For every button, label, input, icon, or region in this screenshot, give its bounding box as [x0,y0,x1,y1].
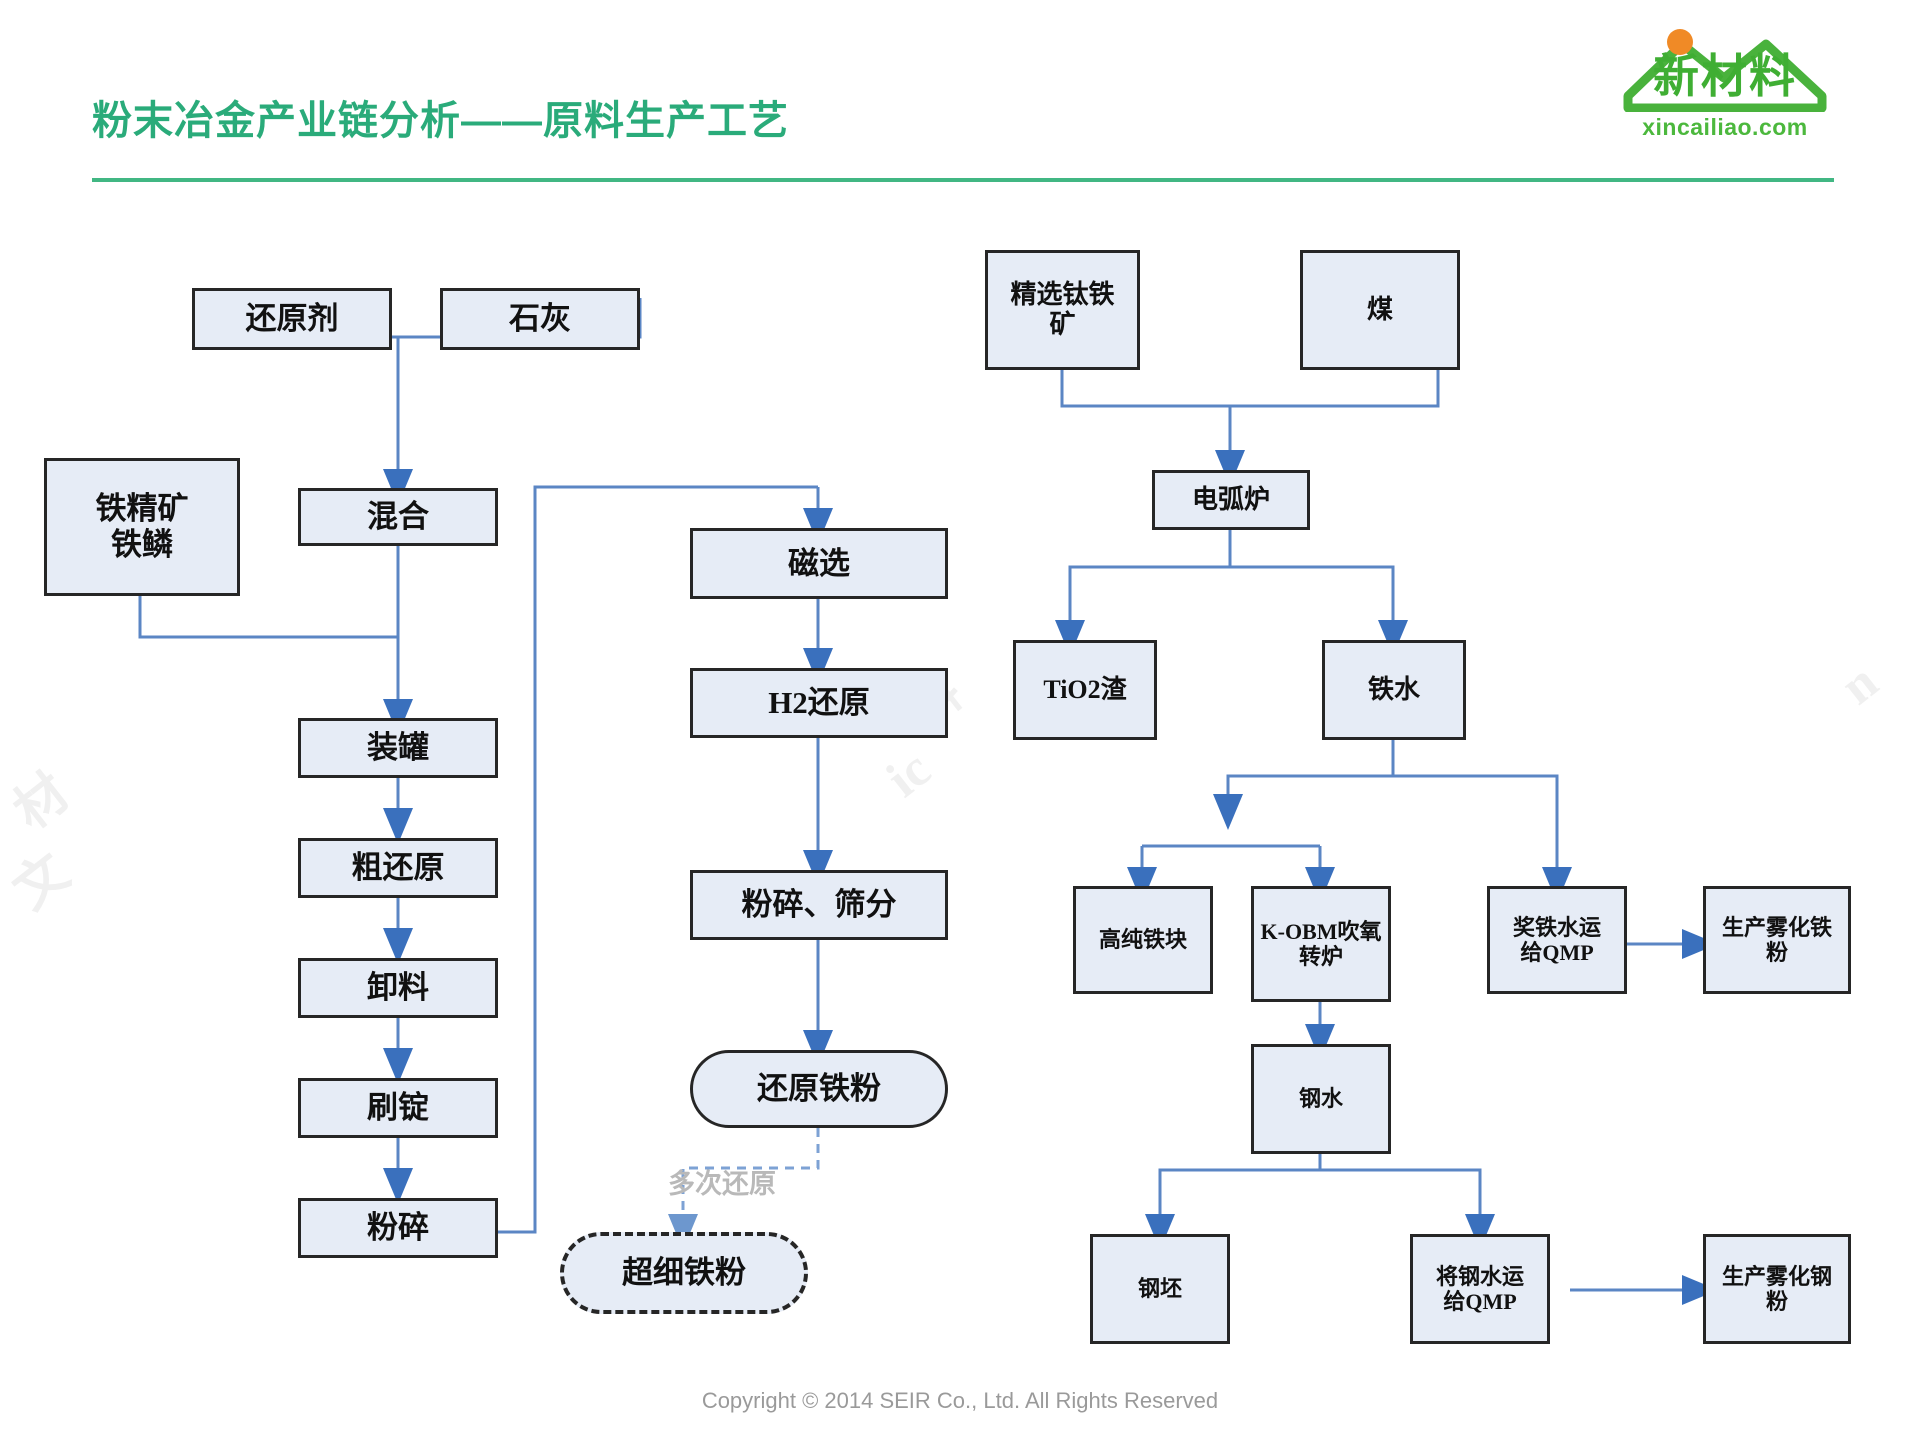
node-atomized-steel-line1: 生产雾化钢 [1722,1264,1832,1289]
node-molten-iron[interactable]: 铁水 [1322,640,1466,740]
node-ship-iron-line2: 给QMP [1520,940,1593,965]
node-coal[interactable]: 煤 [1300,250,1460,370]
node-atomized-iron-powder[interactable]: 生产雾化铁 粉 [1703,886,1851,994]
node-ultrafine-iron-powder[interactable]: 超细铁粉 [560,1232,808,1314]
connector-layer [0,0,1920,1440]
node-ilmenite-line1: 精选钛铁 [1010,280,1114,310]
node-ship-steel-line2: 给QMP [1443,1289,1516,1314]
node-crushing[interactable]: 粉碎 [298,1198,498,1258]
node-high-purity-iron-block[interactable]: 高纯铁块 [1073,886,1213,994]
node-iron-concentrate-line2: 铁鳞 [111,527,173,563]
node-steel-billet[interactable]: 钢坯 [1090,1234,1230,1344]
node-ship-iron-line1: 奖铁水运 [1513,915,1601,940]
node-atomized-iron-line2: 粉 [1766,940,1788,965]
node-coarse-reduction[interactable]: 粗还原 [298,838,498,898]
node-ship-steel-line1: 将钢水运 [1436,1264,1524,1289]
node-crush-and-screen[interactable]: 粉碎、筛分 [690,870,948,940]
node-iron-concentrate-line1: 铁精矿 [96,491,189,527]
node-electric-arc-furnace[interactable]: 电弧炉 [1152,470,1310,530]
node-atomized-steel-powder[interactable]: 生产雾化钢 粉 [1703,1234,1851,1344]
node-molten-steel[interactable]: 钢水 [1251,1044,1391,1154]
node-reducing-agent[interactable]: 还原剂 [192,288,392,350]
node-unloading[interactable]: 卸料 [298,958,498,1018]
node-kobm-line1: K-OBM吹氧 [1261,919,1382,944]
node-atomized-steel-line2: 粉 [1766,1289,1788,1314]
node-iron-concentrate[interactable]: 铁精矿 铁鳞 [44,458,240,596]
node-magnetic-separation[interactable]: 磁选 [690,528,948,599]
node-tio2-slag[interactable]: TiO2渣 [1013,640,1157,740]
node-kobm-line2: 转炉 [1299,944,1343,969]
node-ilmenite[interactable]: 精选钛铁 矿 [985,250,1140,370]
node-h2-reduction[interactable]: H2还原 [690,668,948,738]
node-brush-ingot[interactable]: 刷锭 [298,1078,498,1138]
node-kobm-converter[interactable]: K-OBM吹氧 转炉 [1251,886,1391,1002]
node-ilmenite-line2: 矿 [1049,310,1075,340]
node-mixing[interactable]: 混合 [298,488,498,546]
edge-label-multi-reduction: 多次还原 [668,1162,776,1201]
node-canning[interactable]: 装罐 [298,718,498,778]
node-ship-steel-to-qmp[interactable]: 将钢水运 给QMP [1410,1234,1550,1344]
node-atomized-iron-line1: 生产雾化铁 [1722,915,1832,940]
node-ship-iron-to-qmp[interactable]: 奖铁水运 给QMP [1487,886,1627,994]
node-reduced-iron-powder[interactable]: 还原铁粉 [690,1050,948,1128]
node-lime[interactable]: 石灰 [440,288,640,350]
